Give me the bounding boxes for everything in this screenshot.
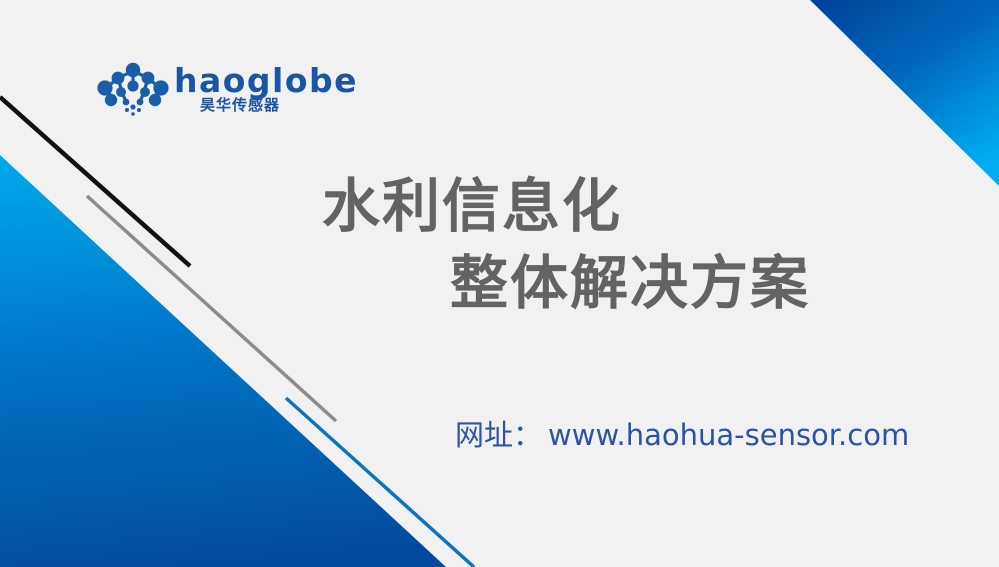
presentation-slide: haoglobe 昊华传感器 水利信息化 整体解决方案 网址： www.haoh… xyxy=(0,0,999,567)
title-line-1: 水利信息化 xyxy=(322,168,882,245)
logo-wordmark: haoglobe xyxy=(174,64,358,97)
title-line-2: 整体解决方案 xyxy=(322,245,882,322)
website-url-value[interactable]: www.haohua-sensor.com xyxy=(542,421,909,450)
website-url: 网址： www.haohua-sensor.com xyxy=(455,421,909,450)
logo-subtitle: 昊华传感器 xyxy=(200,98,280,113)
website-url-label: 网址： xyxy=(455,421,542,450)
company-logo: haoglobe 昊华传感器 xyxy=(96,58,336,122)
network-nodes-icon xyxy=(96,60,170,118)
page-title: 水利信息化 整体解决方案 xyxy=(322,168,882,322)
